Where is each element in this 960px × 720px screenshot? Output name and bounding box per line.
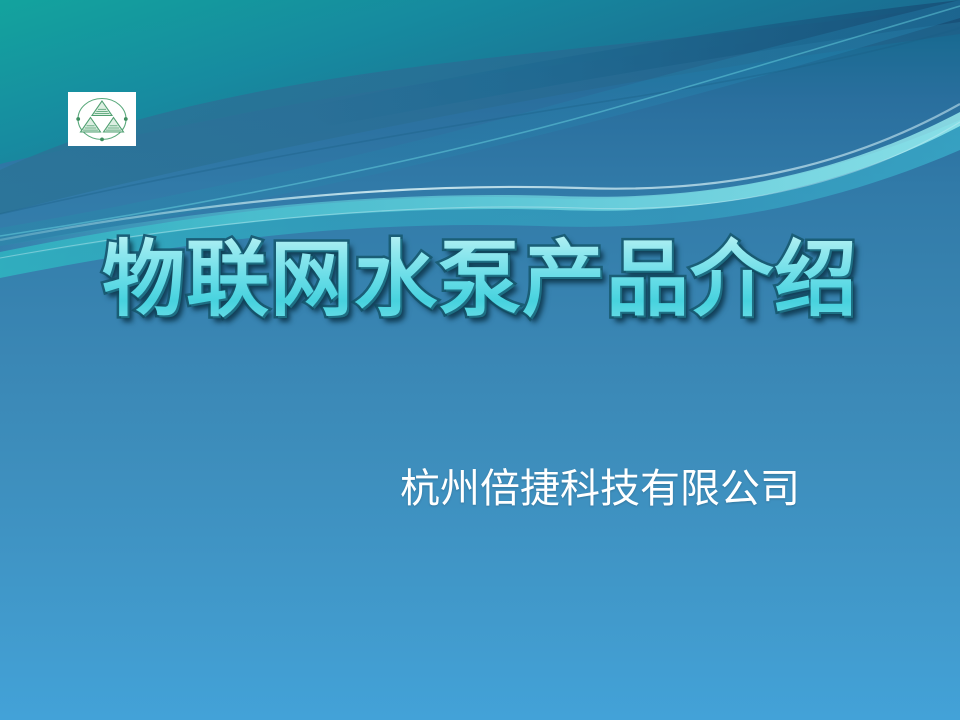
background-wave-decoration: [0, 0, 960, 720]
company-logo: [68, 92, 136, 146]
slide-subtitle: 杭州倍捷科技有限公司: [300, 462, 900, 516]
three-pyramids-in-circle-icon: [74, 96, 130, 142]
title-slide: 物联网水泵产品介绍 物联网水泵产品介绍 杭州倍捷科技有限公司: [0, 0, 960, 720]
slide-title: 物联网水泵产品介绍: [0, 232, 960, 328]
